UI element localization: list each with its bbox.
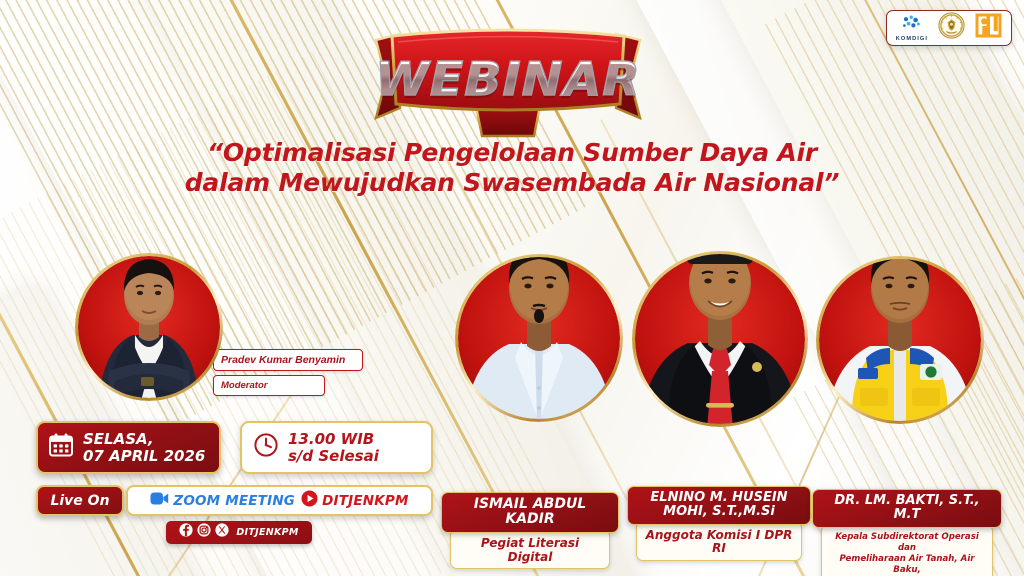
zoom-channel[interactable]: ZOOM MEETING [150,491,295,511]
event-time-line1: 13.00 WIB [288,431,379,448]
pu-logo [975,13,1002,43]
speaker-2-portrait [632,251,808,427]
event-time-box: 13.00 WIB s/d Selesai [240,421,433,474]
event-date-line2: 07 APRIL 2026 [83,448,205,465]
event-date-line1: SELASA, [83,431,205,448]
speaker-1-avatar [455,254,623,422]
speaker-3-role: Kepala Subdirektorat Operasi danPemeliha… [821,524,993,576]
page-title-line1: “Optimalisasi Pengelolaan Sumber Daya Ai… [207,138,817,167]
moderator-label-group: Pradev Kumar Benyamin Moderator [213,349,363,396]
moderator-role: Moderator [213,375,325,396]
live-on-label: Live On [50,493,109,509]
speaker-3-avatar [816,256,984,424]
komdigi-mark-icon [902,15,922,35]
youtube-play-icon [301,490,318,512]
speaker-2-name: ELNINO M. HUSEINMOHI, S.T.,M.Si [627,486,811,525]
live-channels-box: ZOOM MEETING DITJENKPM [126,485,433,516]
live-on-badge: Live On [36,485,124,516]
speaker-1-role: Pegiat Literasi Digital [450,529,610,570]
dpr-ri-logo [938,12,965,44]
clock-icon [253,432,279,463]
webinar-poster: KOMDIGI [0,0,1024,576]
webinar-banner-label: WEBINAR [349,52,667,106]
social-handle-label: DITJENKPM [236,527,298,538]
moderator-portrait [75,253,223,401]
speaker-2-avatar [632,251,808,427]
youtube-channel-label: DITJENKPM [322,493,409,509]
komdigi-logo: KOMDIGI [896,15,928,42]
zoom-channel-label: ZOOM MEETING [173,493,295,509]
webinar-ribbon: WEBINAR [358,22,658,140]
page-title: “Optimalisasi Pengelolaan Sumber Daya Ai… [0,138,1024,197]
event-date-box: SELASA, 07 APRIL 2026 [36,421,221,474]
komdigi-logo-label: KOMDIGI [896,36,928,42]
social-handles-bar: DITJENKPM [166,521,312,544]
speaker-3-name: DR. LM. BAKTI, S.T., M.T [812,489,1002,528]
moderator-avatar [75,253,223,401]
event-date-text: SELASA, 07 APRIL 2026 [83,431,205,465]
speaker-2-role: Anggota Komisi I DPR RI [636,521,802,562]
speaker-3-portrait [816,256,984,424]
speaker-2-plate: ELNINO M. HUSEINMOHI, S.T.,M.Si Anggota … [627,486,811,561]
bg-gold-line [115,380,301,576]
x-twitter-icon[interactable] [215,523,229,542]
facebook-icon[interactable] [179,523,193,542]
instagram-icon[interactable] [197,523,211,542]
speaker-1-plate: ISMAIL ABDUL KADIR Pegiat Literasi Digit… [441,492,619,569]
speaker-3-plate: DR. LM. BAKTI, S.T., M.T Kepala Subdirek… [812,489,1002,576]
moderator-name: Pradev Kumar Benyamin [213,349,363,371]
event-time-text: 13.00 WIB s/d Selesai [288,431,379,465]
speaker-1-portrait [455,254,623,422]
zoom-icon [150,491,169,511]
logo-bar: KOMDIGI [886,10,1012,46]
event-time-line2: s/d Selesai [288,448,379,465]
speaker-1-name: ISMAIL ABDUL KADIR [441,492,619,533]
calendar-icon [48,432,74,463]
youtube-channel[interactable]: DITJENKPM [301,490,409,512]
